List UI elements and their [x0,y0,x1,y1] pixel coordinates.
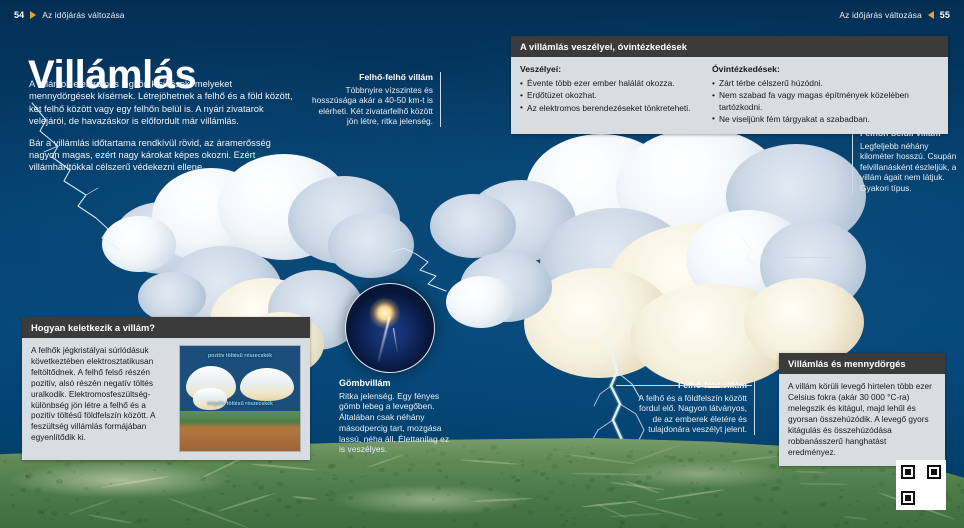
terrain-speck [560,514,563,516]
terrain-speck [24,469,26,471]
terrain-speck [225,480,229,483]
terrain-speck [516,492,521,495]
terrain-speck [36,487,42,491]
terrain-path [793,471,826,474]
terrain-speck [90,517,94,520]
terrain-speck [572,523,576,526]
terrain-speck [568,460,572,463]
terrain-speck [384,483,390,487]
precautions-subtitle: Óvintézkedések: [712,64,939,75]
terrain-speck [511,475,516,478]
running-head-right: Az időjárás változása 55 [839,10,950,20]
leader-line-in-cloud [760,257,852,258]
terrain-speck [277,482,284,487]
intro-paragraph-2: Bár a villámlás időtartama rendkívül röv… [29,137,297,174]
terrain-speck [347,454,353,458]
terrain-speck [350,480,353,482]
folio-right: 55 [940,10,950,20]
terrain-speck [227,475,230,477]
terrain-speck [44,497,51,502]
terrain-speck [647,465,652,468]
callout-text: Többnyire vízszintes és hosszúsága akár … [312,85,433,127]
terrain-path [218,492,276,512]
terrain-speck [185,518,189,521]
terrain-speck [840,489,843,491]
terrain-speck [232,500,235,502]
terrain-speck [304,494,306,496]
terrain-speck [104,461,106,462]
terrain-speck [393,472,399,476]
terrain-speck [3,460,7,463]
terrain-speck [960,489,964,494]
cloud-right [430,128,860,388]
terrain-speck [364,465,366,467]
terrain-speck [285,505,292,510]
charge-separation-diagram: pozitív töltésű részecskék negatív tölté… [179,345,301,452]
terrain-speck [952,449,957,453]
panel-how-lightning-forms: Hogyan keletkezik a villám? A felhők jég… [22,317,310,460]
terrain-path [470,498,533,503]
ball-lightning-photo [345,283,435,373]
terrain-speck [698,452,700,453]
terrain-speck [554,506,560,510]
terrain-speck [551,464,558,469]
terrain-speck [25,475,28,477]
terrain-speck [906,519,910,522]
list-item: Erdőtüzet okozhat. [520,90,698,101]
terrain-speck [690,482,693,484]
terrain-path [87,514,133,524]
terrain-speck [265,513,271,517]
terrain-speck [821,467,825,470]
panel-body-text: A felhők jégkristályai súrlódásuk követk… [31,345,170,452]
terrain-speck [696,482,698,484]
terrain-speck [470,450,476,454]
terrain-speck [232,484,237,488]
terrain-speck [685,500,690,504]
terrain-speck [38,509,45,514]
terrain-speck [81,473,83,474]
terrain-speck [447,494,450,496]
terrain-speck [768,450,773,453]
terrain-speck [589,478,595,482]
terrain-speck [692,489,695,491]
callout-text: Legfeljebb néhány kilométer hosszú. Csup… [860,141,956,193]
terrain-speck [561,524,566,528]
ball-lightning-streak-secondary [393,328,398,354]
terrain-speck [120,463,123,465]
terrain-speck [543,497,549,501]
callout-title: Felhő-felhő villám [311,72,433,83]
terrain-speck [919,513,924,516]
terrain-speck [496,452,499,454]
leader-line-cloud-ground [616,385,752,386]
terrain-speck [239,509,244,513]
terrain-speck [732,451,737,455]
terrain-speck [719,524,725,528]
terrain-speck [500,472,503,474]
terrain-speck [254,510,258,512]
panel-lightning-thunder: Villámlás és mennydörgés A villám körüli… [779,353,945,466]
terrain-speck [187,523,190,525]
terrain-speck [884,522,888,525]
terrain-speck [332,477,336,480]
callout-cloud-to-ground: Felhő-föld villám A felhő és a földfelsz… [637,380,755,435]
terrain-speck [20,488,26,492]
terrain-speck [556,479,558,481]
terrain-speck [833,523,840,528]
terrain-speck [872,486,875,488]
terrain-speck [618,506,621,508]
terrain-speck [11,504,14,506]
list-item: Ne viseljünk fém tárgyakat a szabadban. [712,114,939,125]
terrain-speck [296,499,302,503]
terrain-speck [167,462,172,466]
terrain-speck [267,461,270,463]
terrain-speck [584,514,587,516]
terrain-speck [790,507,792,509]
terrain-speck [707,460,710,462]
terrain-path [367,453,404,468]
qr-code[interactable] [896,460,946,510]
terrain-speck [138,500,145,505]
terrain-path [730,455,777,462]
terrain-speck [488,488,492,491]
dangers-subtitle: Veszélyei: [520,64,698,75]
terrain-speck [521,464,526,467]
terrain-path [563,453,636,465]
callout-text: A felhő és a földfelszín között fordul e… [639,393,747,435]
terrain-speck [957,506,961,509]
terrain-speck [201,496,206,500]
terrain-speck [84,487,89,490]
section-label-left: Az időjárás változása [42,10,124,20]
terrain-path [628,443,682,464]
panel-body-text: A villám körüli levegő hirtelen több eze… [779,374,945,466]
terrain-speck [527,510,534,515]
terrain-speck [740,472,742,474]
terrain-speck [879,482,884,486]
terrain-speck [437,469,442,473]
terrain-speck [585,484,591,488]
terrain-speck [238,485,242,488]
panel-header: A villámlás veszélyei, óvintézkedések [511,36,948,57]
terrain-speck [945,497,952,502]
terrain-speck [483,507,490,512]
terrain-speck [144,519,149,522]
terrain-speck [364,512,367,514]
terrain-path [843,516,868,520]
terrain-speck [600,510,604,513]
terrain-speck [348,496,354,500]
intro-text: A villámok elektromos légköri kisülések,… [29,78,297,183]
terrain-speck [682,465,685,467]
callout-ball-lightning: Gömbvillám Ritka jelenség. Egy fényes gö… [339,378,457,455]
terrain-speck [586,446,589,448]
terrain-speck [572,484,575,486]
terrain-speck [892,473,895,475]
terrain-speck [553,448,558,452]
terrain-speck [379,468,385,472]
terrain-speck [521,460,524,462]
terrain-speck [75,498,79,501]
terrain-speck [185,461,187,463]
terrain-speck [56,479,63,484]
list-item: Nem szabad fa vagy magas építmények köze… [712,90,939,112]
diagram-cloud-right [240,368,294,401]
callout-in-cloud: Felhőn belüli villám Legfeljebb néhány k… [852,128,958,194]
terrain-speck [860,469,863,471]
callout-title: Gömbvillám [339,378,457,389]
terrain-speck [443,510,447,513]
terrain-speck [882,504,887,507]
dangers-list: Évente több ezer ember halálát okozza. E… [520,78,698,114]
terrain-speck [136,518,143,523]
terrain-speck [548,489,554,493]
terrain-speck [720,454,725,458]
terrain-speck [955,458,960,462]
terrain-speck [512,504,518,508]
terrain-speck [634,476,638,478]
terrain-speck [435,486,442,491]
terrain-speck [573,517,575,519]
qr-code-canvas [899,463,943,507]
terrain-speck [548,453,552,456]
terrain-speck [490,445,497,450]
list-item: Az elektromos berendezéseket tönkretehet… [520,103,698,114]
terrain-speck [848,504,851,506]
panel-dangers-precautions: A villámlás veszélyei, óvintézkedések Ve… [511,36,948,134]
terrain-speck [709,467,713,470]
terrain-speck [432,498,435,500]
ball-lightning-streak [377,316,390,361]
terrain-speck [875,507,881,511]
terrain-speck [590,452,594,455]
terrain-speck [540,473,544,476]
terrain-speck [657,471,662,475]
terrain-speck [422,470,424,471]
terrain-speck [217,478,220,480]
terrain-speck [669,456,675,460]
terrain-speck [50,518,55,521]
terrain-speck [731,468,734,470]
intro-paragraph-1: A villámok elektromos légköri kisülések,… [29,78,297,128]
terrain-speck [605,475,610,479]
precautions-column: Óvintézkedések: Zárt térbe célszerű húzó… [712,64,939,126]
terrain-speck [359,498,361,500]
terrain-speck [476,491,478,492]
terrain-speck [331,486,334,488]
terrain-speck [409,463,415,467]
terrain-speck [799,486,804,489]
terrain-speck [839,496,843,499]
terrain-speck [607,487,613,491]
terrain-speck [73,471,75,473]
panel-header: Hogyan keletkezik a villám? [22,317,310,338]
terrain-speck [258,485,264,489]
terrain-path [582,500,638,508]
terrain-speck [407,468,413,472]
terrain-speck [629,450,633,453]
terrain-speck [51,511,58,516]
terrain-speck [770,487,776,491]
spread-page: 54 Az időjárás változása Az időjárás vál… [0,0,964,528]
terrain-speck [575,460,578,462]
terrain-speck [646,475,652,479]
terrain-speck [460,481,465,485]
terrain-speck [153,469,157,471]
terrain-speck [280,470,285,473]
terrain-speck [565,520,568,522]
terrain-path [799,482,848,485]
terrain-speck [756,522,762,526]
list-item: Zárt térbe célszerű húzódni. [712,78,939,89]
terrain-speck [452,519,456,522]
terrain-speck [391,504,397,508]
terrain-speck [237,477,239,479]
terrain-speck [11,494,14,496]
precautions-list: Zárt térbe célszerű húzódni. Nem szabad … [712,78,939,125]
terrain-speck [364,475,366,476]
terrain-speck [769,498,774,501]
terrain-speck [627,454,633,458]
terrain-speck [960,513,964,516]
terrain-speck [316,477,322,481]
terrain-speck [583,459,586,461]
terrain-speck [500,453,503,455]
terrain-speck [436,462,441,466]
terrain-speck [360,476,364,479]
terrain-speck [328,464,334,468]
terrain-speck [819,502,825,506]
diagram-label-negative: negatív töltésű részecskék [180,401,300,407]
terrain-speck [87,496,90,498]
terrain-speck [688,458,693,462]
terrain-speck [276,500,281,503]
terrain-speck [113,500,118,503]
terrain-speck [47,471,51,474]
terrain-speck [329,490,334,493]
terrain-speck [163,470,165,471]
terrain-speck [162,490,165,492]
terrain-path [68,498,113,515]
terrain-speck [41,517,47,521]
terrain-speck [536,495,542,499]
terrain-speck [462,445,466,448]
terrain-speck [312,454,315,456]
triangle-left-icon [928,11,934,19]
terrain-speck [761,483,767,487]
terrain-speck [80,460,85,464]
terrain-path [167,497,249,528]
terrain-speck [571,447,574,449]
section-label-right: Az időjárás változása [839,10,921,20]
terrain-speck [405,491,412,496]
callout-cloud-to-cloud: Felhő-felhő villám Többnyire vízszintes … [311,72,441,127]
dangers-column: Veszélyei: Évente több ezer ember halálá… [520,64,698,126]
terrain-speck [533,470,537,473]
terrain-speck [578,494,581,496]
terrain-speck [333,474,336,476]
terrain-speck [566,509,570,512]
terrain-speck [957,483,961,486]
terrain-speck [64,462,71,467]
terrain-speck [856,500,860,502]
terrain-speck [33,470,36,472]
terrain-speck [879,468,885,472]
terrain-speck [678,459,682,462]
list-item: Évente több ezer ember halálát okozza. [520,78,698,89]
terrain-speck [716,513,722,517]
terrain-speck [324,471,327,473]
terrain-speck [545,477,550,480]
terrain-speck [473,522,479,526]
terrain-speck [776,479,783,484]
terrain-speck [532,461,534,463]
running-head-left: 54 Az időjárás változása [14,10,125,20]
terrain-speck [503,491,505,492]
panel-header: Villámlás és mennydörgés [779,353,945,374]
diagram-label-positive: pozitív töltésű részecskék [180,353,300,359]
terrain-speck [120,511,126,515]
terrain-speck [296,513,301,517]
terrain-speck [216,491,222,496]
terrain-speck [948,478,951,480]
terrain-speck [679,520,682,522]
terrain-speck [625,495,631,499]
terrain-speck [792,475,798,479]
terrain-speck [445,476,449,479]
terrain-speck [914,520,917,522]
terrain-speck [356,518,359,520]
terrain-speck [558,480,564,484]
terrain-speck [770,464,776,468]
terrain-speck [782,510,789,515]
terrain-speck [714,494,717,496]
terrain-speck [660,524,665,528]
terrain-path [630,501,698,520]
terrain-speck [844,521,849,525]
folio-left: 54 [14,10,24,20]
terrain-speck [546,456,552,460]
triangle-right-icon [30,11,36,19]
terrain-speck [465,487,468,489]
terrain-speck [812,474,819,479]
terrain-speck [329,498,334,501]
callout-text: Ritka jelenség. Egy fényes gömb lebeg a … [339,391,449,455]
terrain-speck [722,468,727,472]
terrain-speck [754,496,760,500]
